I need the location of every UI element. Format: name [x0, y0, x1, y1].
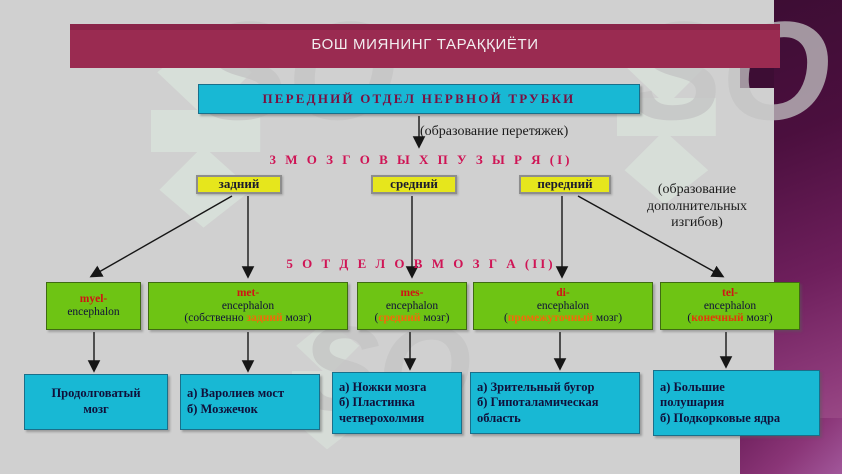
title-bar-stripe	[70, 24, 780, 30]
result-medulla-line1: Продолговатый	[25, 386, 167, 402]
division-di-ru-highlight: промежуточный	[508, 312, 593, 324]
box-division-diencephalon[interactable]: di- encephalon (промежуточный мозг)	[473, 282, 653, 330]
division-myel-root: encephalon	[67, 306, 119, 318]
division-mes-ru-after: мозг)	[421, 312, 450, 324]
box-result-medulla[interactable]: Продолговатый мозг	[24, 374, 168, 430]
note-constrictions: (образование перетяжек)	[420, 124, 568, 141]
result-thalamus-line2: б) Гипоталамическая	[477, 395, 639, 411]
box-division-telencephalon[interactable]: tel- encephalon (конечный мозг)	[660, 282, 800, 330]
box-anterior-neural-tube[interactable]: ПЕРЕДНИЙ ОТДЕЛ НЕРВНОЙ ТРУБКИ	[198, 84, 640, 114]
division-met-ru-before: (собственно	[184, 312, 246, 324]
division-met-russian: (собственно задний мозг)	[152, 312, 344, 325]
division-tel-latin: tel- encephalon	[664, 287, 796, 313]
result-thalamus-line1: а) Зрительный бугор	[477, 380, 639, 396]
watermark-text: SO	[196, 0, 394, 152]
heading-three-vesicles: 3 М О З Г О В Ы Х П У З Ы Р Я (I)	[0, 152, 842, 168]
slide-canvas: SO SO SO SO БОШ МИЯНИНГ ТАРАҚҚИЁТИ	[0, 0, 842, 474]
result-hemis-line1: а) Большие	[660, 380, 819, 396]
division-mes-root: encephalon	[386, 300, 438, 312]
division-myel-latin: myel- encephalon	[50, 293, 137, 319]
heading-five-divisions: 5 О Т Д Е Л О В М О З Г А (II)	[0, 256, 842, 272]
division-tel-ru-after: мозг)	[744, 312, 773, 324]
division-di-root: encephalon	[537, 300, 589, 312]
division-mes-ru-highlight: средний	[378, 312, 420, 324]
result-pons-line1: а) Варолиев мост	[187, 386, 319, 402]
note-flexures-line3: изгибов)	[622, 215, 772, 232]
box-division-myelencephalon[interactable]: myel- encephalon	[46, 282, 141, 330]
result-thalamus-line3: область	[477, 411, 639, 427]
division-met-latin: met- encephalon	[152, 287, 344, 313]
note-flexures-line1: (образование	[622, 182, 772, 199]
box-vesicle-mid-label: средний	[373, 177, 455, 192]
note-flexures-line2: дополнительных	[622, 199, 772, 216]
division-met-ru-highlight: задний	[247, 312, 283, 324]
box-vesicle-hind-label: задний	[198, 177, 280, 192]
box-division-mesencephalon[interactable]: mes- encephalon (средний мозг)	[357, 282, 467, 330]
result-pons-line2: б) Мозжечок	[187, 402, 319, 418]
result-peduncles-line2: б) Пластинка	[339, 395, 461, 411]
box-vesicle-mid[interactable]: средний	[371, 175, 457, 194]
box-result-pons-cerebellum[interactable]: а) Варолиев мост б) Мозжечок	[180, 374, 320, 430]
result-hemis-line3: б) Подкорковые ядра	[660, 411, 819, 427]
division-tel-russian: (конечный мозг)	[664, 312, 796, 325]
result-medulla-line2: мозг	[25, 402, 167, 418]
box-vesicle-fore-label: передний	[521, 177, 609, 192]
division-mes-russian: (средний мозг)	[361, 312, 463, 325]
result-hemis-line2: полушария	[660, 395, 819, 411]
note-additional-flexures: (образование дополнительных изгибов)	[622, 182, 772, 232]
division-mes-latin: mes- encephalon	[361, 287, 463, 313]
division-di-prefix: di-	[556, 287, 569, 299]
box-division-metencephalon[interactable]: met- encephalon (собственно задний мозг)	[148, 282, 348, 330]
division-myel-prefix: myel-	[80, 293, 107, 305]
division-met-root: encephalon	[222, 300, 274, 312]
box-vesicle-fore[interactable]: передний	[519, 175, 611, 194]
division-mes-prefix: mes-	[401, 287, 424, 299]
division-tel-ru-highlight: конечный	[691, 312, 743, 324]
division-met-ru-after: мозг)	[283, 312, 312, 324]
division-met-prefix: met-	[237, 287, 259, 299]
division-di-latin: di- encephalon	[477, 287, 649, 313]
slide-title-bar: БОШ МИЯНИНГ ТАРАҚҚИЁТИ	[70, 24, 780, 68]
page-title: БОШ МИЯНИНГ ТАРАҚҚИЁТИ	[70, 36, 780, 53]
division-tel-prefix: tel-	[722, 287, 738, 299]
result-peduncles-line1: а) Ножки мозга	[339, 380, 461, 396]
box-vesicle-hind[interactable]: задний	[196, 175, 282, 194]
result-peduncles-line3: четверохолмия	[339, 411, 461, 427]
box-result-hemispheres-nuclei[interactable]: а) Большие полушария б) Подкорковые ядра	[653, 370, 820, 436]
box-result-peduncles-quadrigemina[interactable]: а) Ножки мозга б) Пластинка четверохолми…	[332, 372, 462, 434]
division-tel-root: encephalon	[704, 300, 756, 312]
box-result-thalamus-hypothalamus[interactable]: а) Зрительный бугор б) Гипоталамическая …	[470, 372, 640, 434]
box-anterior-neural-tube-label: ПЕРЕДНИЙ ОТДЕЛ НЕРВНОЙ ТРУБКИ	[199, 92, 639, 107]
division-di-ru-after: мозг)	[593, 312, 622, 324]
division-di-russian: (промежуточный мозг)	[477, 312, 649, 325]
